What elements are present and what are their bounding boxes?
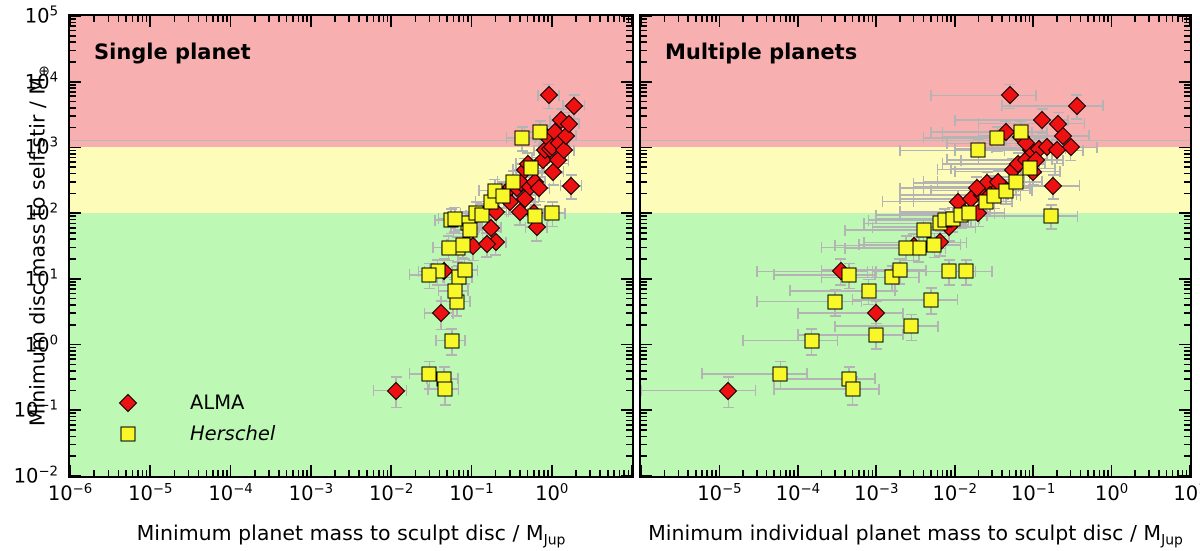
x-error-bar (743, 340, 837, 342)
x-tick-major-top (69, 16, 71, 27)
data-point-herschel[interactable] (447, 211, 462, 226)
y-tick-minor-right (626, 312, 632, 314)
y-error-cap (835, 258, 846, 260)
x-tick-minor (458, 470, 460, 476)
y-error-cap (543, 108, 554, 110)
y-tick-minor (641, 455, 647, 457)
y-tick-minor-right (626, 370, 632, 372)
x-tick-minor (623, 470, 625, 476)
y-tick-major-right (1179, 344, 1190, 346)
x-tick-major (471, 465, 473, 476)
x-error-bar (900, 150, 1005, 152)
y-tick-minor (641, 420, 647, 422)
data-point-herschel[interactable] (916, 223, 931, 238)
x-error-cap (452, 308, 454, 319)
y-tick-minor-right (1184, 107, 1190, 109)
x-error-cap (844, 243, 846, 254)
x-tick-minor-top (348, 16, 350, 22)
x-tick-minor-top (1172, 16, 1174, 22)
x-tick-minor (607, 470, 609, 476)
x-error-cap (858, 239, 860, 250)
y-error-cap (1015, 120, 1026, 122)
x-tick-minor (1020, 470, 1022, 476)
x-error-cap (575, 130, 577, 141)
y-tick-minor (70, 436, 76, 438)
x-tick-minor (789, 470, 791, 476)
y-tick-minor-right (1184, 91, 1190, 93)
x-tick-minor-top (254, 16, 256, 22)
x-tick-major-top (631, 16, 633, 27)
y-error-cap (391, 407, 402, 409)
data-point-herschel[interactable] (474, 208, 489, 223)
y-error-cap (939, 208, 950, 210)
x-tick-minor-top (821, 16, 823, 22)
x-error-cap (478, 185, 480, 196)
y-error-cap (961, 259, 972, 261)
x-error-cap (434, 215, 436, 226)
x-tick-minor-top (268, 16, 270, 22)
x-error-cap (960, 155, 962, 166)
y-error-cap (913, 261, 924, 263)
x-error-bar (978, 123, 1084, 125)
data-point-herschel[interactable] (447, 283, 462, 298)
y-tick-major (70, 212, 81, 214)
data-point-herschel[interactable] (422, 267, 437, 282)
x-tick-minor-top (619, 16, 621, 22)
y-tick-minor-right (1184, 258, 1190, 260)
x-tick-major-top (390, 16, 392, 27)
data-point-herschel[interactable] (927, 237, 942, 252)
x-tick-major-top (797, 16, 799, 27)
x-tick-minor (415, 470, 417, 476)
y-tick-minor-right (1184, 101, 1190, 103)
y-error-cap (1051, 163, 1062, 165)
y-tick-minor (70, 193, 76, 195)
data-point-herschel[interactable] (515, 130, 530, 145)
data-point-herschel[interactable] (528, 209, 543, 224)
x-tick-major (69, 465, 71, 476)
x-tick-major-top (310, 16, 312, 27)
x-tick-minor-top (373, 16, 375, 22)
y-tick-major (641, 147, 652, 149)
y-tick-minor-right (1184, 293, 1190, 295)
x-tick-minor-top (899, 16, 901, 22)
y-error-cap (723, 407, 734, 409)
y-error-cap (863, 279, 874, 281)
y-tick-label: 104 (0, 70, 58, 93)
x-tick-minor-top (599, 16, 601, 22)
x-tick-minor (715, 470, 717, 476)
x-tick-label: 10−3 (289, 482, 333, 505)
x-tick-minor (302, 470, 304, 476)
x-error-cap (937, 176, 939, 187)
y-tick-minor-right (1184, 416, 1190, 418)
x-tick-minor (292, 470, 294, 476)
data-point-herschel[interactable] (924, 292, 939, 307)
data-point-herschel[interactable] (899, 240, 914, 255)
x-tick-label: 10−1 (449, 482, 493, 505)
x-tick-minor (942, 470, 944, 476)
y-tick-minor (70, 101, 76, 103)
x-tick-minor (306, 470, 308, 476)
data-point-herschel[interactable] (506, 174, 521, 189)
y-error-cap (830, 315, 841, 317)
x-tick-minor-top (383, 16, 385, 22)
y-error-cap (926, 287, 937, 289)
y-tick-minor (70, 25, 76, 27)
y-tick-minor-right (1184, 173, 1190, 175)
y-tick-minor-right (1184, 41, 1190, 43)
x-error-cap (957, 294, 959, 305)
y-tick-minor (641, 232, 647, 234)
data-point-herschel[interactable] (990, 130, 1005, 145)
y-tick-minor (641, 444, 647, 446)
y-tick-minor-right (1184, 350, 1190, 352)
y-error-cap (535, 120, 546, 122)
x-tick-minor (1009, 470, 1011, 476)
legend-label: Herschel (190, 422, 275, 445)
data-point-herschel[interactable] (942, 264, 957, 279)
legend-label: ALMA (190, 391, 244, 414)
x-tick-major (1189, 465, 1191, 476)
x-tick-minor-top (607, 16, 609, 22)
y-tick-minor-right (1184, 298, 1190, 300)
y-tick-minor (70, 288, 76, 290)
y-tick-minor-right (1184, 288, 1190, 290)
x-tick-minor-top (358, 16, 360, 22)
data-point-herschel[interactable] (457, 263, 472, 278)
x-tick-minor-top (628, 16, 630, 22)
x-error-cap (975, 222, 977, 233)
x-axis-label-multiple: Minimum individual planet mass to sculpt… (639, 521, 1192, 548)
y-error-cap (1071, 118, 1082, 120)
y-tick-minor (641, 150, 647, 152)
y-tick-minor-right (1184, 304, 1190, 306)
x-tick-major-top (1032, 16, 1034, 27)
y-tick-minor (70, 324, 76, 326)
x-tick-minor-top (664, 16, 666, 22)
x-error-cap (966, 237, 968, 248)
x-tick-minor (348, 470, 350, 476)
y-tick-minor (70, 35, 76, 37)
data-point-herschel[interactable] (444, 333, 459, 348)
x-tick-minor (286, 470, 288, 476)
x-tick-minor (1025, 470, 1027, 476)
y-tick-major (641, 15, 652, 17)
x-error-cap (878, 384, 880, 395)
data-point-herschel[interactable] (462, 223, 477, 238)
data-point-herschel[interactable] (441, 240, 456, 255)
y-error-cap (847, 404, 858, 406)
x-tick-label: 100 (1095, 482, 1128, 505)
y-tick-minor-right (626, 429, 632, 431)
x-tick-minor-top (366, 16, 368, 22)
x-tick-major (875, 465, 877, 476)
data-point-herschel[interactable] (496, 188, 511, 203)
y-tick-minor (641, 238, 647, 240)
data-point-herschel[interactable] (773, 366, 788, 381)
data-point-herschel[interactable] (1022, 161, 1037, 176)
y-tick-minor-right (626, 258, 632, 260)
y-tick-major (641, 475, 652, 477)
x-tick-minor-top (1107, 16, 1109, 22)
x-tick-minor (946, 470, 948, 476)
y-tick-major-right (1179, 212, 1190, 214)
x-tick-minor-top (991, 16, 993, 22)
x-tick-minor-top (446, 16, 448, 22)
x-tick-minor (899, 470, 901, 476)
x-tick-minor (188, 470, 190, 476)
y-tick-minor (641, 298, 647, 300)
x-tick-minor-top (298, 16, 300, 22)
y-tick-minor (641, 41, 647, 43)
x-error-bar (790, 290, 895, 292)
x-axis-label-multiple-text: Minimum individual planet mass to sculpt… (648, 521, 1161, 545)
x-tick-minor (1158, 470, 1160, 476)
x-error-cap (1035, 90, 1037, 101)
y-error-cap (440, 404, 451, 406)
legend-square-icon (121, 427, 136, 442)
x-error-cap (868, 215, 870, 226)
x-error-bar (835, 325, 938, 327)
x-tick-minor (446, 470, 448, 476)
data-point-herschel[interactable] (438, 382, 453, 397)
x-error-cap (899, 145, 901, 156)
y-tick-minor (641, 219, 647, 221)
y-error-cap (961, 284, 972, 286)
y-tick-major (641, 81, 652, 83)
x-tick-minor (821, 470, 823, 476)
x-tick-minor-top (1186, 16, 1188, 22)
y-tick-minor (70, 378, 76, 380)
y-tick-minor-right (1184, 166, 1190, 168)
y-error-cap (844, 263, 855, 265)
x-error-cap (937, 164, 939, 175)
x-error-cap (1046, 127, 1048, 138)
y-tick-minor (70, 18, 76, 20)
x-tick-minor-top (1080, 16, 1082, 22)
x-tick-label: 10−2 (369, 482, 413, 505)
y-tick-major-right (621, 409, 632, 411)
x-error-cap (1077, 211, 1079, 222)
figure-root: Minimum disc mass to self-stir / M⊕ Sing… (0, 0, 1200, 551)
data-point-herschel[interactable] (1008, 174, 1023, 189)
panel-title-single: Single planet (94, 40, 251, 64)
y-tick-minor-right (626, 364, 632, 366)
y-tick-minor-right (1184, 153, 1190, 155)
y-tick-label: 10−1 (0, 399, 58, 422)
x-error-cap (821, 265, 823, 276)
y-tick-major (70, 344, 81, 346)
x-tick-minor (628, 470, 630, 476)
y-tick-minor (641, 157, 647, 159)
x-tick-minor (1093, 470, 1095, 476)
y-tick-minor (641, 22, 647, 24)
y-tick-minor-right (1184, 35, 1190, 37)
y-tick-minor (641, 324, 647, 326)
y-tick-minor-right (1184, 50, 1190, 52)
x-tick-minor-top (834, 16, 836, 22)
x-error-cap (837, 335, 839, 346)
y-tick-minor-right (626, 153, 632, 155)
x-error-cap (477, 265, 479, 276)
x-tick-minor-top (695, 16, 697, 22)
x-error-cap (991, 266, 993, 277)
y-tick-minor (641, 161, 647, 163)
y-tick-minor-right (1184, 238, 1190, 240)
x-tick-minor (118, 470, 120, 476)
y-error-cap (547, 201, 558, 203)
data-point-herschel[interactable] (455, 237, 470, 252)
x-error-cap (409, 368, 411, 379)
x-tick-minor-top (1134, 16, 1136, 22)
x-tick-major-top (719, 16, 721, 27)
y-tick-minor-right (626, 424, 632, 426)
y-tick-minor-right (1184, 181, 1190, 183)
data-point-herschel[interactable] (804, 333, 819, 348)
y-tick-major-right (621, 344, 632, 346)
y-tick-minor (641, 127, 647, 129)
y-tick-minor (641, 429, 647, 431)
y-tick-major-right (1179, 409, 1190, 411)
y-tick-minor (70, 370, 76, 372)
x-tick-minor-top (780, 16, 782, 22)
data-point-herschel[interactable] (1013, 125, 1028, 140)
y-tick-minor-right (1184, 193, 1190, 195)
x-error-cap (1102, 100, 1104, 111)
x-tick-minor-top (439, 16, 441, 22)
y-tick-minor-right (626, 347, 632, 349)
x-tick-minor-top (174, 16, 176, 22)
y-tick-minor-right (626, 107, 632, 109)
data-point-herschel[interactable] (861, 283, 876, 298)
x-tick-minor-top (942, 16, 944, 22)
x-error-cap (756, 296, 758, 307)
y-tick-minor (70, 127, 76, 129)
data-point-herschel[interactable] (961, 206, 976, 221)
data-point-herschel[interactable] (828, 294, 843, 309)
x-error-cap (960, 239, 962, 250)
y-tick-minor (70, 238, 76, 240)
y-error-cap (1034, 137, 1045, 139)
y-tick-minor (641, 25, 647, 27)
y-tick-minor (641, 153, 647, 155)
x-tick-minor (132, 470, 134, 476)
x-tick-minor (226, 470, 228, 476)
y-error-cap (944, 284, 955, 286)
x-tick-minor (868, 470, 870, 476)
y-tick-minor-right (1184, 420, 1190, 422)
y-tick-minor (70, 161, 76, 163)
x-tick-minor-top (463, 16, 465, 22)
y-tick-label: 101 (0, 267, 58, 290)
y-tick-minor-right (626, 173, 632, 175)
x-tick-major (719, 465, 721, 476)
y-tick-minor-right (626, 232, 632, 234)
y-tick-minor-right (1184, 61, 1190, 63)
data-point-herschel[interactable] (892, 263, 907, 278)
x-tick-label: 10−4 (776, 482, 820, 505)
x-tick-minor-top (1015, 16, 1017, 22)
x-tick-minor-top (206, 16, 208, 22)
x-tick-minor (298, 470, 300, 476)
y-tick-minor-right (626, 84, 632, 86)
data-point-herschel[interactable] (959, 264, 974, 279)
data-point-herschel[interactable] (422, 366, 437, 381)
y-tick-major (641, 278, 652, 280)
y-tick-minor (641, 107, 647, 109)
data-point-herschel[interactable] (845, 382, 860, 397)
y-error-cap (446, 328, 457, 330)
y-tick-minor (70, 358, 76, 360)
y-tick-minor (641, 166, 647, 168)
y-tick-minor (641, 101, 647, 103)
x-tick-minor-top (773, 16, 775, 22)
x-tick-minor (575, 470, 577, 476)
x-tick-label: 10−5 (697, 482, 741, 505)
x-tick-label: 10−3 (854, 482, 898, 505)
x-tick-major-top (149, 16, 151, 27)
data-point-herschel[interactable] (911, 241, 926, 256)
data-point-herschel[interactable] (971, 143, 986, 158)
x-tick-minor (1099, 470, 1101, 476)
x-tick-minor-top (519, 16, 521, 22)
x-tick-major (1111, 465, 1113, 476)
x-error-cap (975, 266, 977, 277)
data-point-herschel[interactable] (524, 161, 539, 176)
x-tick-minor (1182, 470, 1184, 476)
y-tick-minor (641, 193, 647, 195)
data-point-herschel[interactable] (533, 125, 548, 140)
data-point-herschel[interactable] (869, 327, 884, 342)
x-tick-minor (711, 470, 713, 476)
y-tick-minor-right (626, 181, 632, 183)
y-tick-minor (641, 436, 647, 438)
x-tick-minor (937, 470, 939, 476)
y-error-cap (863, 304, 874, 306)
y-tick-major (70, 475, 81, 477)
y-error-cap (424, 361, 435, 363)
x-tick-minor (872, 470, 874, 476)
x-tick-minor (495, 470, 497, 476)
x-tick-minor (1056, 470, 1058, 476)
x-error-cap (581, 180, 583, 191)
x-error-cap (844, 225, 846, 236)
x-error-cap (946, 138, 948, 149)
y-tick-minor-right (626, 115, 632, 117)
y-error-cap (1048, 198, 1059, 200)
solar-nebula-line (641, 140, 1190, 142)
data-point-herschel[interactable] (904, 319, 919, 334)
y-tick-minor-right (626, 223, 632, 225)
x-tick-minor (1001, 470, 1003, 476)
y-tick-minor-right (1184, 378, 1190, 380)
x-error-cap (533, 145, 535, 156)
y-tick-minor (70, 223, 76, 225)
x-error-bar (774, 378, 875, 380)
data-point-herschel[interactable] (842, 267, 857, 282)
x-error-cap (742, 335, 744, 346)
y-tick-minor-right (626, 293, 632, 295)
x-tick-major (631, 465, 633, 476)
data-point-herschel[interactable] (545, 206, 560, 221)
y-tick-minor-right (626, 127, 632, 129)
x-error-cap (1054, 163, 1056, 174)
y-tick-minor (70, 157, 76, 159)
y-tick-minor (70, 50, 76, 52)
data-point-herschel[interactable] (1044, 209, 1059, 224)
y-tick-minor-right (1184, 455, 1190, 457)
